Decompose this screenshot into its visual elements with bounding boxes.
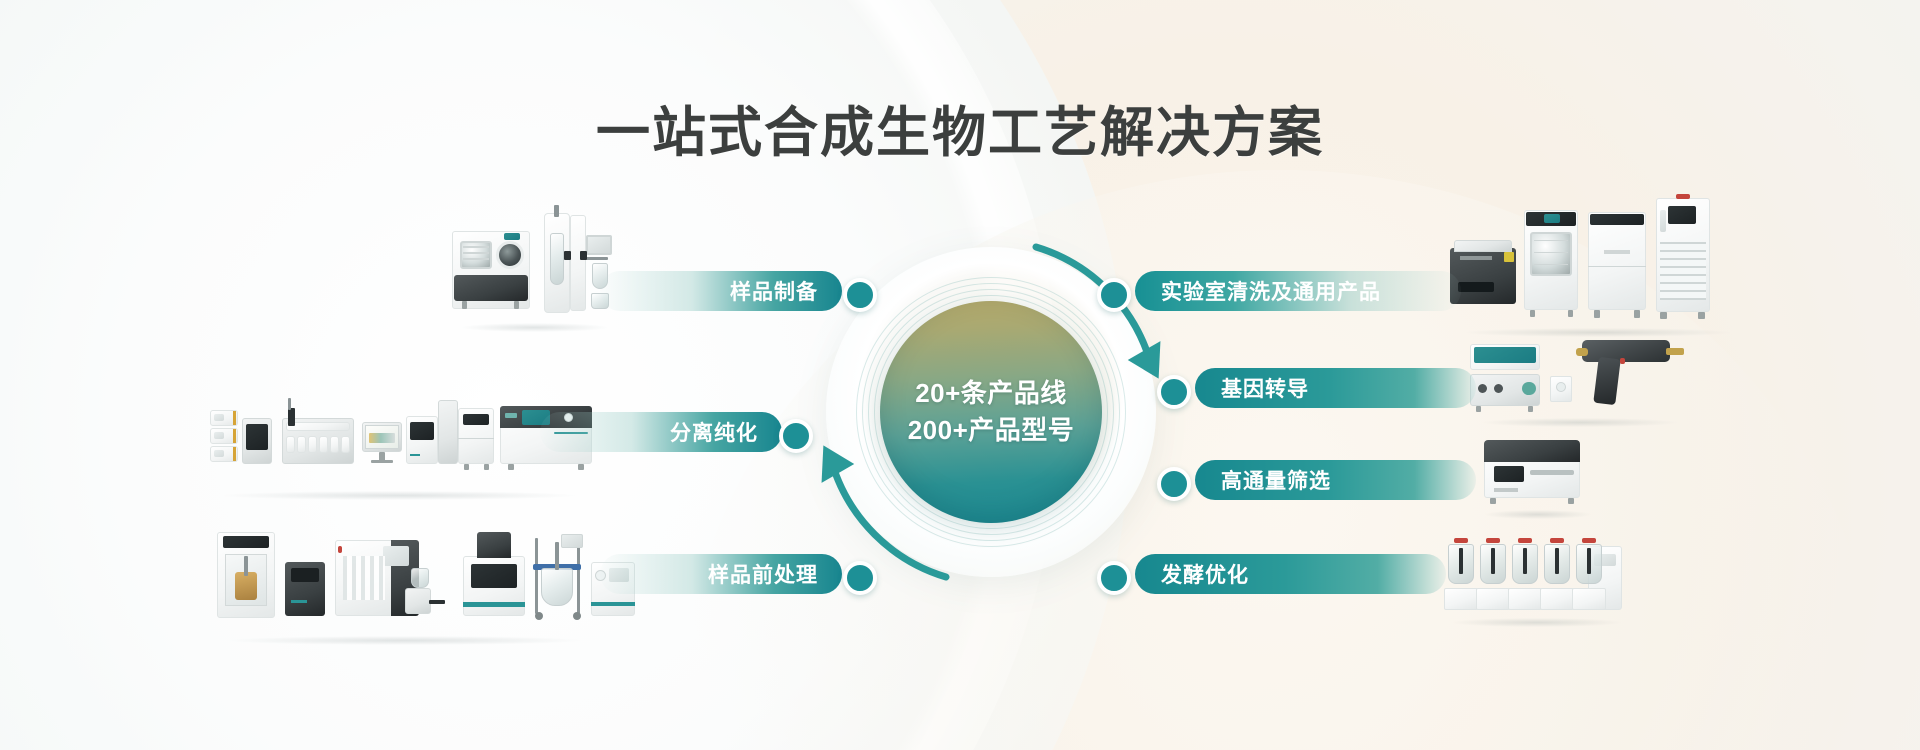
cluster-shadow <box>1485 510 1591 519</box>
gene-gun-trigger-indicator <box>1620 358 1625 364</box>
homogenizer-indicator <box>338 546 342 553</box>
prep-chromatograph-solvent-tower <box>438 400 458 464</box>
fraction-collector-rack <box>341 436 350 453</box>
drying-cabinet-top-indicator <box>1676 194 1690 199</box>
electroporator-port <box>1494 384 1503 393</box>
microplate-reader-foot <box>1568 498 1574 504</box>
benchtop-analyzer-foot <box>508 464 514 470</box>
fraction-collector-rack <box>330 436 339 453</box>
freeze-dryer-shelf <box>463 258 489 260</box>
bioreactor-headplate-port <box>1550 538 1564 543</box>
homogenizer-valve-rack <box>343 556 385 600</box>
gene-gun-icon <box>1582 340 1670 362</box>
bioreactor-impeller-shaft <box>1587 548 1591 574</box>
bioreactor-impeller-shaft <box>1459 548 1463 574</box>
sample-processor-screen <box>471 564 517 588</box>
lab-washer-control-strip <box>1590 214 1644 225</box>
node-dot-sample-pretreatment[interactable] <box>843 561 877 595</box>
hplc-module-display <box>214 450 224 457</box>
homogenizer-outlet-block <box>405 588 431 614</box>
fraction-collector-tubing <box>288 398 291 410</box>
equipment-cluster-high-throughput-screening <box>1478 440 1598 512</box>
fraction-collector-rack <box>319 436 328 453</box>
gene-gun-cartridge-ring <box>1576 348 1588 356</box>
ultrasonic-cleaner-tank-rim <box>1454 240 1512 252</box>
reactor-frame-post <box>535 538 538 614</box>
pill-lab-cleaning[interactable]: 实验室清洗及通用产品 <box>1135 271 1461 311</box>
node-dot-gene-transduction[interactable] <box>1157 375 1191 409</box>
bioreactor-headplate-port <box>1518 538 1532 543</box>
workstation-monitor-base <box>371 460 393 463</box>
bioreactor-impeller-shaft <box>1523 548 1527 574</box>
chromatogram-trace <box>369 433 395 443</box>
cluster-shadow <box>462 323 607 332</box>
washer-rack-line <box>1534 240 1568 241</box>
pill-label: 实验室清洗及通用产品 <box>1161 276 1381 306</box>
pill-high-throughput-screening[interactable]: 高通量筛选 <box>1195 460 1476 500</box>
washer-rack-line <box>1534 252 1568 253</box>
lab-washer-icon <box>1588 212 1646 310</box>
microplate-reader-foot <box>1490 498 1496 504</box>
freeze-dryer-shelf <box>463 246 489 248</box>
node-dot-fermentation[interactable] <box>1097 561 1131 595</box>
spray-dryer-connector-arm <box>586 257 608 260</box>
pill-sample-preparation[interactable]: 样品制备 <box>600 271 842 311</box>
node-dot-high-throughput-screening[interactable] <box>1157 467 1191 501</box>
hub-line-product-lines: 20+条产品线 <box>915 375 1067 412</box>
freeze-dryer-foot <box>514 301 519 309</box>
bioreactor-headplate-port <box>1486 538 1500 543</box>
pill-label: 分离纯化 <box>670 417 758 447</box>
spray-dryer-valve <box>564 251 571 260</box>
ultrasonic-cleaner-warning-label <box>1504 252 1514 262</box>
sample-beaker <box>235 572 257 600</box>
tissue-grinder-display <box>291 568 319 582</box>
pill-label: 基因转导 <box>1221 373 1309 403</box>
column-oven-display <box>463 414 489 425</box>
microplate-reader-top-shell <box>1484 440 1580 462</box>
prep-chromatograph-screen <box>410 422 434 440</box>
tissue-grinder-accent <box>291 600 307 603</box>
cluster-shadow <box>224 491 576 500</box>
lab-washer-door-seam <box>1588 266 1646 267</box>
glassware-washer-door <box>1530 232 1572 276</box>
chiller-accent-band <box>591 602 635 606</box>
hplc-accent-stripe <box>233 429 236 443</box>
reactor-frame-post <box>577 538 580 614</box>
electroporator-port <box>1478 384 1487 393</box>
jacketed-glass-reactor-vessel <box>541 568 573 606</box>
spray-dryer-drying-chamber <box>550 233 564 285</box>
fraction-collector-dispense-head <box>288 408 295 426</box>
microplate-reader-brand-text <box>1494 488 1518 492</box>
drying-cabinet-tray-grid <box>1660 242 1706 300</box>
spray-dryer-control-column <box>570 215 586 311</box>
fraction-collector-gantry-rail <box>286 422 350 431</box>
node-dot-sample-preparation[interactable] <box>843 278 877 312</box>
cluster-shadow <box>1466 328 1730 337</box>
prep-chromatograph-foot <box>464 464 469 470</box>
bioreactor-impeller-shaft <box>1555 548 1559 574</box>
fraction-collector-rack <box>297 436 306 453</box>
homogenizer-nozzle <box>429 600 445 604</box>
benchtop-analyzer-logo <box>505 413 517 418</box>
node-dot-lab-cleaning[interactable] <box>1097 278 1131 312</box>
microplate-reader-drawer-slot <box>1530 470 1574 475</box>
reactor-caster <box>535 612 543 620</box>
glassware-washer-foot <box>1568 310 1573 317</box>
hplc-module-display <box>214 432 224 439</box>
benchtop-analyzer-foot <box>578 464 584 470</box>
pill-label: 样品制备 <box>730 276 818 306</box>
bioreactor-base-module <box>1476 588 1510 610</box>
ultrasonic-cleaner-display <box>1458 282 1494 292</box>
prep-chromatograph-accent <box>410 454 420 456</box>
hub-core-circle: 20+条产品线 200+产品型号 <box>880 301 1102 523</box>
electroporator-lid-latch <box>1522 382 1536 395</box>
fraction-collector-rack <box>286 436 295 453</box>
reactor-stirrer-shaft <box>555 542 559 570</box>
ultrasonic-probe <box>244 556 248 576</box>
gene-gun-grip <box>1593 357 1620 405</box>
bioreactor-headplate-port <box>1454 538 1468 543</box>
freeze-dryer-round-port <box>496 241 524 269</box>
hub-line-product-models: 200+产品型号 <box>908 412 1075 449</box>
fraction-collector-rack <box>308 436 317 453</box>
hplc-accent-stripe <box>233 447 236 461</box>
freeze-dryer-shelf <box>463 252 489 254</box>
spray-dryer-touchscreen <box>586 235 612 255</box>
bioreactor-base-module <box>1540 588 1574 610</box>
hplc-detector-window <box>246 424 268 450</box>
pill-label: 样品前处理 <box>708 559 818 589</box>
bioreactor-base-module <box>1444 588 1478 610</box>
equipment-cluster-lab-cleaning <box>1448 190 1748 330</box>
lab-washer-foot <box>1594 310 1600 318</box>
drying-cabinet-handle <box>1660 210 1666 232</box>
drying-cabinet-display <box>1668 206 1696 224</box>
electroporator-foot <box>1476 406 1481 412</box>
spray-dryer-valve <box>580 251 587 260</box>
electroporator-foot <box>1528 406 1533 412</box>
pill-label: 发酵优化 <box>1161 559 1249 589</box>
cuvette-box-emblem <box>1556 382 1566 392</box>
cluster-shadow <box>1453 618 1620 627</box>
drying-cabinet-caster <box>1698 312 1705 319</box>
pill-fermentation[interactable]: 发酵优化 <box>1135 554 1446 594</box>
equipment-cluster-sample-pretreatment <box>205 528 605 638</box>
lab-washer-foot <box>1634 310 1640 318</box>
lab-washer-brand-text <box>1604 250 1630 254</box>
bioreactor-impeller-shaft <box>1491 548 1495 574</box>
pill-separation-purification[interactable]: 分离纯化 <box>540 412 782 452</box>
glassware-washer-foot <box>1530 310 1535 317</box>
cluster-shadow <box>229 636 581 645</box>
equipment-cluster-fermentation <box>1442 528 1632 620</box>
bioreactor-base-module <box>1572 588 1606 610</box>
glassware-washer-display <box>1544 214 1560 223</box>
sample-processor-hood <box>477 532 511 558</box>
drying-cabinet-caster <box>1660 312 1667 319</box>
hplc-accent-stripe <box>233 411 236 425</box>
pill-sample-pretreatment[interactable]: 样品前处理 <box>600 554 842 594</box>
bioreactor-headplate-port <box>1582 538 1596 543</box>
equipment-cluster-separation-purification <box>200 388 600 493</box>
washer-rack-line <box>1534 264 1568 265</box>
cluster-shadow <box>1483 418 1677 427</box>
freeze-dryer-display <box>504 233 520 240</box>
node-dot-separation-purification[interactable] <box>779 419 813 453</box>
page-title: 一站式合成生物工艺解决方案 <box>0 88 1920 167</box>
freeze-dryer-base-grille <box>454 275 528 301</box>
equipment-cluster-sample-preparation <box>452 205 617 325</box>
spray-dryer-inlet-tube <box>554 205 559 217</box>
pill-label: 高通量筛选 <box>1221 465 1331 495</box>
homogenizer-touchscreen <box>383 546 409 566</box>
homogenizer-feed-hopper <box>411 568 429 588</box>
ultrasonic-cleaner-brand-text <box>1460 256 1492 260</box>
ultrasonic-homogenizer-display <box>223 536 269 548</box>
electroporator-display <box>1474 347 1536 363</box>
sample-processor-accent-band <box>463 602 525 607</box>
hplc-module-display <box>214 414 224 421</box>
counterclockwise-arrow-head <box>807 445 855 492</box>
pill-gene-transduction[interactable]: 基因转导 <box>1195 368 1476 408</box>
prep-chromatograph-foot <box>484 464 489 470</box>
reactor-caster <box>573 612 581 620</box>
gene-gun-barrel <box>1666 348 1684 355</box>
freeze-dryer-foot <box>462 301 467 309</box>
microplate-reader-display <box>1494 466 1524 482</box>
reactor-controller <box>561 534 583 548</box>
column-oven-divider <box>458 438 494 439</box>
bioreactor-base-module <box>1508 588 1542 610</box>
clockwise-arrow-head <box>1127 332 1175 379</box>
equipment-cluster-gene-transduction <box>1470 340 1690 420</box>
